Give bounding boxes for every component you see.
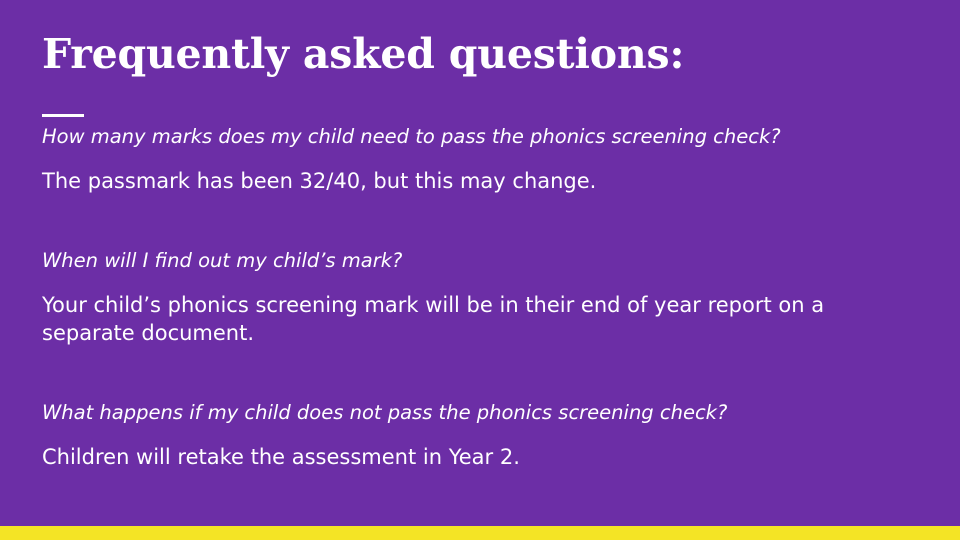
page-title: Frequently asked questions: bbox=[42, 0, 920, 76]
title-divider-rule bbox=[42, 114, 84, 117]
bottom-accent-bar bbox=[0, 526, 960, 540]
faq-question: What happens if my child does not pass t… bbox=[42, 400, 902, 426]
slide-content: Frequently asked questions: How many mar… bbox=[42, 0, 920, 472]
faq-question: How many marks does my child need to pas… bbox=[42, 124, 902, 150]
faq-answer: The passmark has been 32/40, but this ma… bbox=[42, 168, 880, 196]
faq-item: How many marks does my child need to pas… bbox=[42, 124, 920, 196]
faq-answer: Children will retake the assessment in Y… bbox=[42, 444, 880, 472]
slide-canvas: Frequently asked questions: How many mar… bbox=[0, 0, 960, 540]
faq-item: When will I find out my child’s mark? Yo… bbox=[42, 248, 920, 348]
faq-list: How many marks does my child need to pas… bbox=[42, 124, 920, 472]
faq-item: What happens if my child does not pass t… bbox=[42, 400, 920, 472]
faq-answer: Your child’s phonics screening mark will… bbox=[42, 292, 880, 347]
faq-question: When will I find out my child’s mark? bbox=[42, 248, 902, 274]
